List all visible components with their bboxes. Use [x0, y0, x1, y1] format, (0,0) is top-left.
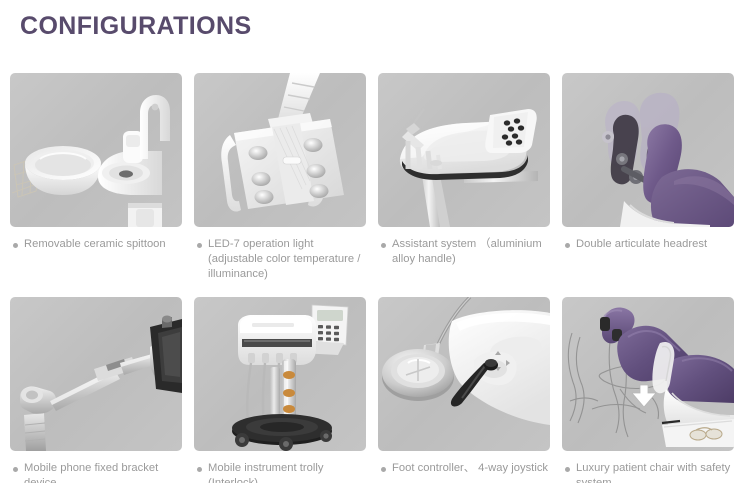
page-title: CONFIGURATIONS — [20, 11, 252, 41]
config-item-instrument-trolly[interactable]: Mobile instrument trolly (Interlock) — [194, 297, 366, 483]
bullet-icon — [565, 467, 570, 472]
caption: Luxury patient chair with safety system — [562, 461, 734, 483]
config-item-led-light[interactable]: LED-7 operation light (adjustable color … — [194, 73, 366, 282]
caption-text: Double articulate headrest — [576, 237, 707, 252]
config-item-headrest[interactable]: Double articulate headrest — [562, 73, 734, 282]
config-item-patient-chair[interactable]: Luxury patient chair with safety system — [562, 297, 734, 483]
caption-text: Luxury patient chair with safety system — [576, 461, 734, 483]
caption: Removable ceramic spittoon — [10, 237, 182, 252]
config-item-assistant-system[interactable]: Assistant system （aluminium alloy handle… — [378, 73, 550, 282]
caption: LED-7 operation light (adjustable color … — [194, 237, 366, 282]
caption: Mobile instrument trolly (Interlock) — [194, 461, 366, 483]
configurations-grid: Removable ceramic spittoon — [10, 73, 740, 483]
caption-text: Assistant system （aluminium alloy handle… — [392, 237, 550, 267]
configurations-page: CONFIGURATIONS — [0, 0, 750, 483]
grid-row: Mobile phone fixed bracket device — [10, 297, 740, 483]
grid-row: Removable ceramic spittoon — [10, 73, 740, 282]
bullet-icon — [565, 243, 570, 248]
bullet-icon — [197, 243, 202, 248]
double-articulate-headrest-photo[interactable] — [562, 73, 734, 227]
caption: Double articulate headrest — [562, 237, 734, 252]
config-item-phone-bracket[interactable]: Mobile phone fixed bracket device — [10, 297, 182, 483]
mobile-phone-bracket-photo[interactable] — [10, 297, 182, 451]
bullet-icon — [197, 467, 202, 472]
caption-text: Foot controller、 4-way joystick — [392, 461, 548, 476]
luxury-patient-chair-photo[interactable] — [562, 297, 734, 451]
bullet-icon — [381, 243, 386, 248]
config-item-spittoon[interactable]: Removable ceramic spittoon — [10, 73, 182, 282]
bullet-icon — [13, 467, 18, 472]
ceramic-spittoon-photo[interactable] — [10, 73, 182, 227]
caption-text: Removable ceramic spittoon — [24, 237, 166, 252]
bullet-icon — [13, 243, 18, 248]
assistant-system-photo[interactable] — [378, 73, 550, 227]
bullet-icon — [381, 467, 386, 472]
caption-text: Mobile instrument trolly (Interlock) — [208, 461, 366, 483]
config-item-foot-controller[interactable]: Foot controller、 4-way joystick — [378, 297, 550, 483]
caption: Foot controller、 4-way joystick — [378, 461, 550, 476]
caption: Mobile phone fixed bracket device — [10, 461, 182, 483]
caption: Assistant system （aluminium alloy handle… — [378, 237, 550, 267]
caption-text: Mobile phone fixed bracket device — [24, 461, 182, 483]
caption-text: LED-7 operation light (adjustable color … — [208, 237, 366, 282]
led-operation-light-photo[interactable] — [194, 73, 366, 227]
mobile-instrument-trolly-photo[interactable] — [194, 297, 366, 451]
foot-controller-joystick-photo[interactable] — [378, 297, 550, 451]
